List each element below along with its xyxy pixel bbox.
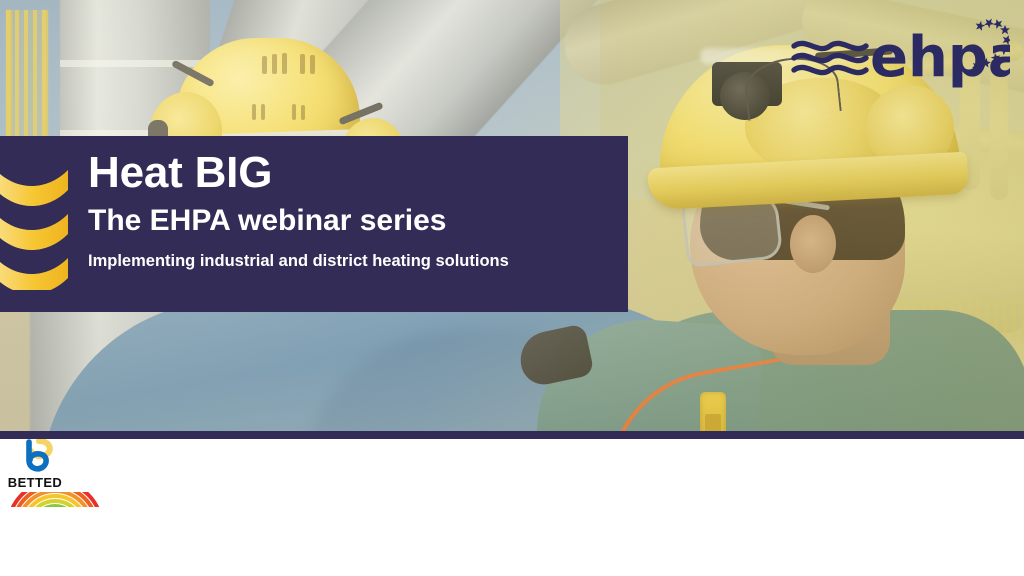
banner-text-block: Heat BIG The EHPA webinar series Impleme… [88,150,509,272]
page-title: Heat BIG [88,150,509,196]
hardhat-vent [310,55,315,74]
partner-logo-betted[interactable]: BETTED [0,439,70,492]
ehpa-logo-svg: ehpa [790,18,1010,94]
banner-tagline: Implementing industrial and district hea… [88,252,509,272]
funding-row: Funded by the European Union [0,507,1024,576]
ehpa-waves-icon [0,158,74,290]
worker-ear [790,215,836,273]
hardhat-vent [252,104,256,120]
hardhat-vent [301,105,305,120]
hero-bottom-strip [0,431,1024,439]
banner-subtitle: The EHPA webinar series [88,204,509,238]
hardhat-vent [300,54,305,74]
ehpa-wordmark: ehpa [870,25,1010,90]
hardhat-vent [272,54,277,74]
betted-monogram-icon [15,439,55,473]
ehpa-logo: ehpa [790,18,1010,94]
hardhat-vent [282,53,287,74]
hardhat-vent [261,104,265,120]
wave-lines-icon [794,43,866,72]
hardhat-vent [292,104,296,120]
title-banner: Heat BIG The EHPA webinar series Impleme… [0,136,628,312]
hardhat-vent [262,56,267,74]
webinar-promo-poster: ehpa [0,0,1024,576]
partner-logo-bar: SPIRIT Push 2Heat BETTED [0,439,1024,507]
partner-label-betted: BETTED [8,475,62,490]
